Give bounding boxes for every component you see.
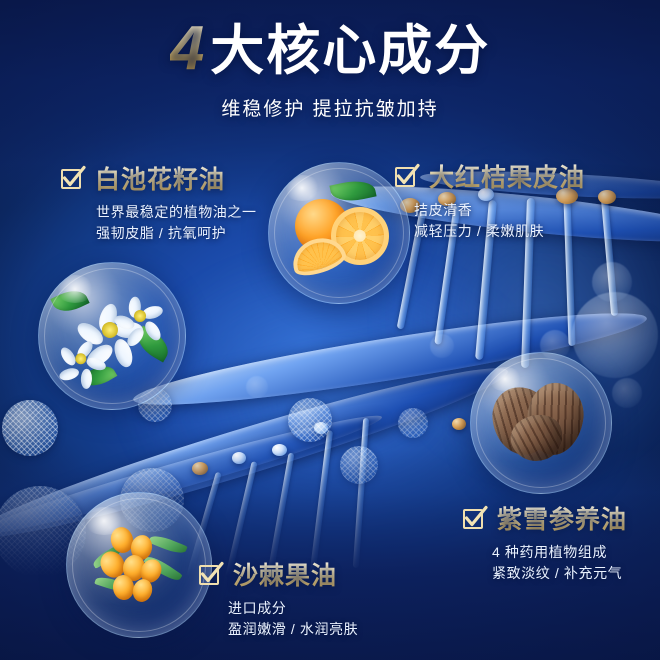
bubble-seabuckthorn (66, 492, 212, 638)
checkbox-checked-icon (60, 166, 85, 191)
ingredient-heading: 紫雪参养油 (462, 500, 627, 536)
ingredient-description: 世界最稳定的植物油之一 强韧皮脂 / 抗氧呵护 (60, 202, 257, 244)
ingredient-description: 拮皮清香 减轻压力 / 柔嫩肌肤 (394, 200, 585, 242)
ingredient-heading: 白池花籽油 (60, 160, 257, 196)
title-number: 4 (170, 14, 210, 83)
ingredient-name: 大红桔果皮油 (429, 158, 585, 194)
page-title: 4大核心成分 (170, 18, 490, 80)
desc-line-1: 4 种药用植物组成 (492, 542, 627, 563)
bubble-ring (274, 168, 405, 299)
ingredient-item-meadowfoam[interactable]: 白池花籽油 世界最稳定的植物油之一 强韧皮脂 / 抗氧呵护 (60, 160, 257, 244)
bubble-mandarin (268, 162, 410, 304)
desc-line-2: 强韧皮脂 / 抗氧呵护 (96, 223, 257, 244)
checkbox-checked-icon (462, 506, 487, 531)
checkbox-checked-icon (394, 164, 419, 189)
ingredient-name: 紫雪参养油 (497, 500, 627, 536)
bubble-ring (476, 358, 607, 489)
ingredient-name: 沙棘果油 (233, 556, 337, 592)
ingredient-item-mandarin[interactable]: 大红桔果皮油 拮皮清香 减轻压力 / 柔嫩肌肤 (394, 158, 585, 242)
bubble-meadowfoam (38, 262, 186, 410)
ingredient-heading: 大红桔果皮油 (394, 158, 585, 194)
desc-line-2: 紧致淡纹 / 补充元气 (492, 563, 627, 584)
ingredient-heading: 沙棘果油 (198, 556, 358, 592)
desc-line-1: 拮皮清香 (414, 200, 585, 221)
ingredient-item-seabuckthorn[interactable]: 沙棘果油 进口成分 盈润嫩滑 / 水润亮肤 (198, 556, 358, 640)
desc-line-2: 盈润嫩滑 / 水润亮肤 (228, 619, 358, 640)
bubble-ring (72, 498, 206, 632)
ingredient-item-ginseng[interactable]: 紫雪参养油 4 种药用植物组成 紧致淡纹 / 补充元气 (462, 500, 627, 584)
poster-header: 4大核心成分 维稳修护 提拉抗皱加持 (0, 18, 660, 121)
bubble-ring (44, 268, 180, 404)
page-subtitle: 维稳修护 提拉抗皱加持 (0, 94, 660, 121)
ingredient-description: 4 种药用植物组成 紧致淡纹 / 补充元气 (462, 542, 627, 584)
ingredient-poster: 4大核心成分 维稳修护 提拉抗皱加持 白池花籽油 世界最稳定的植物油之一 强韧皮… (0, 0, 660, 660)
bubble-ginseng (470, 352, 612, 494)
desc-line-2: 减轻压力 / 柔嫩肌肤 (414, 221, 585, 242)
desc-line-1: 进口成分 (228, 598, 358, 619)
checkbox-checked-icon (198, 562, 223, 587)
title-text: 大核心成分 (210, 21, 490, 81)
ingredient-description: 进口成分 盈润嫩滑 / 水润亮肤 (198, 598, 358, 640)
desc-line-1: 世界最稳定的植物油之一 (96, 202, 257, 223)
ingredient-name: 白池花籽油 (95, 160, 225, 196)
